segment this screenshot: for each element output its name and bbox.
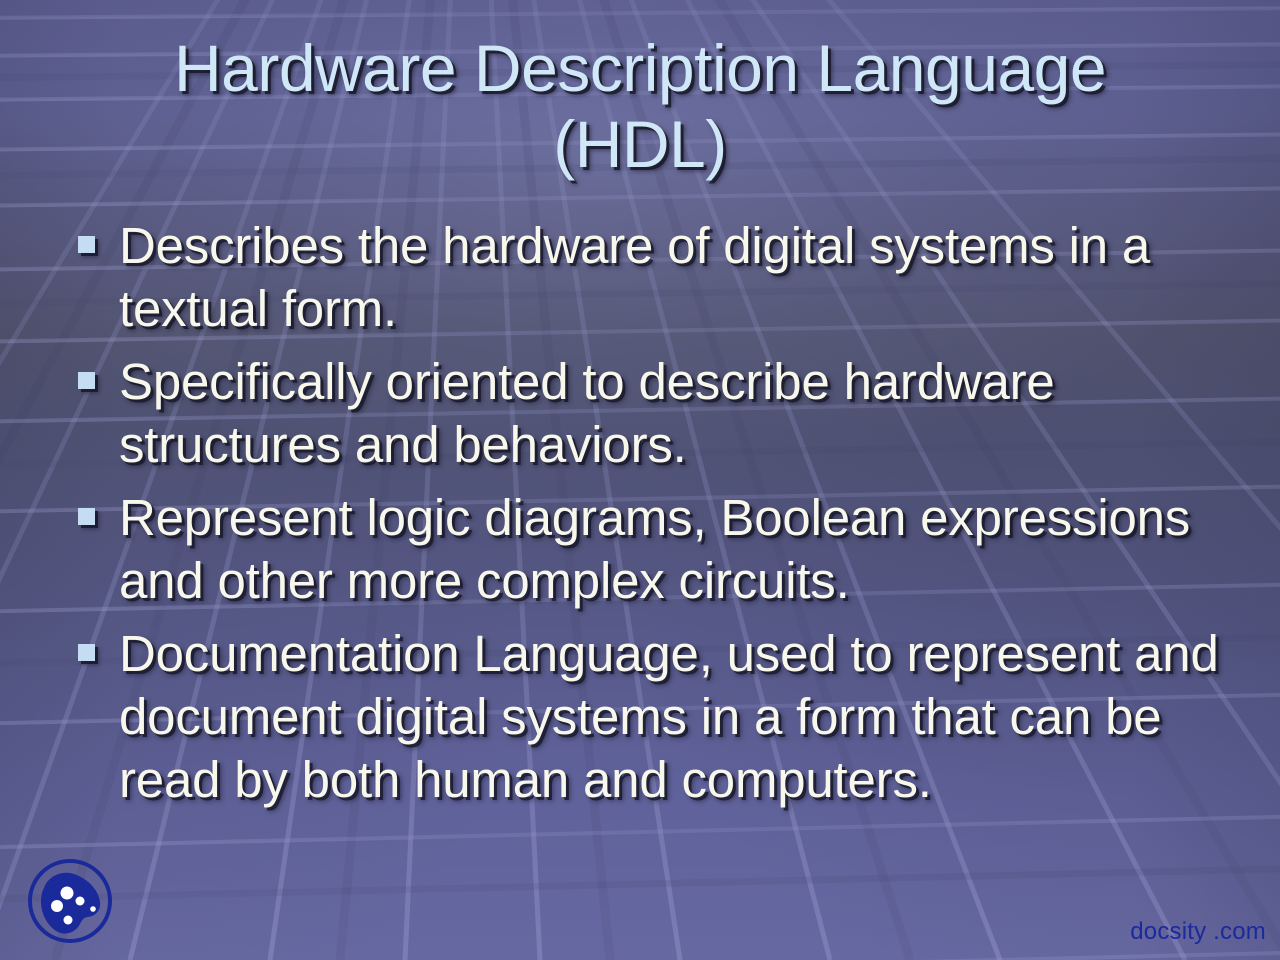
bullet-text: Specifically oriented to describe hardwa… [119, 350, 1228, 476]
docsity-watermark: docsity .com [1130, 918, 1266, 946]
square-bullet-icon [78, 236, 95, 253]
square-bullet-icon [78, 508, 95, 525]
presentation-slide: Hardware Description Language (HDL) Desc… [0, 0, 1280, 960]
square-bullet-icon [78, 644, 95, 661]
docsity-logo-icon [22, 852, 118, 948]
bullet-text: Describes the hardware of digital system… [119, 214, 1228, 340]
list-item: Specifically oriented to describe hardwa… [78, 350, 1228, 476]
square-bullet-icon [78, 372, 95, 389]
list-item: Represent logic diagrams, Boolean expres… [78, 486, 1228, 612]
list-item: Documentation Language, used to represen… [78, 622, 1228, 811]
slide-content: Hardware Description Language (HDL) Desc… [0, 0, 1280, 960]
slide-title: Hardware Description Language (HDL) [60, 30, 1220, 182]
list-item: Describes the hardware of digital system… [78, 214, 1228, 340]
bullet-text: Documentation Language, used to represen… [119, 622, 1228, 811]
bullet-list: Describes the hardware of digital system… [78, 214, 1228, 811]
bullet-text: Represent logic diagrams, Boolean expres… [119, 486, 1228, 612]
